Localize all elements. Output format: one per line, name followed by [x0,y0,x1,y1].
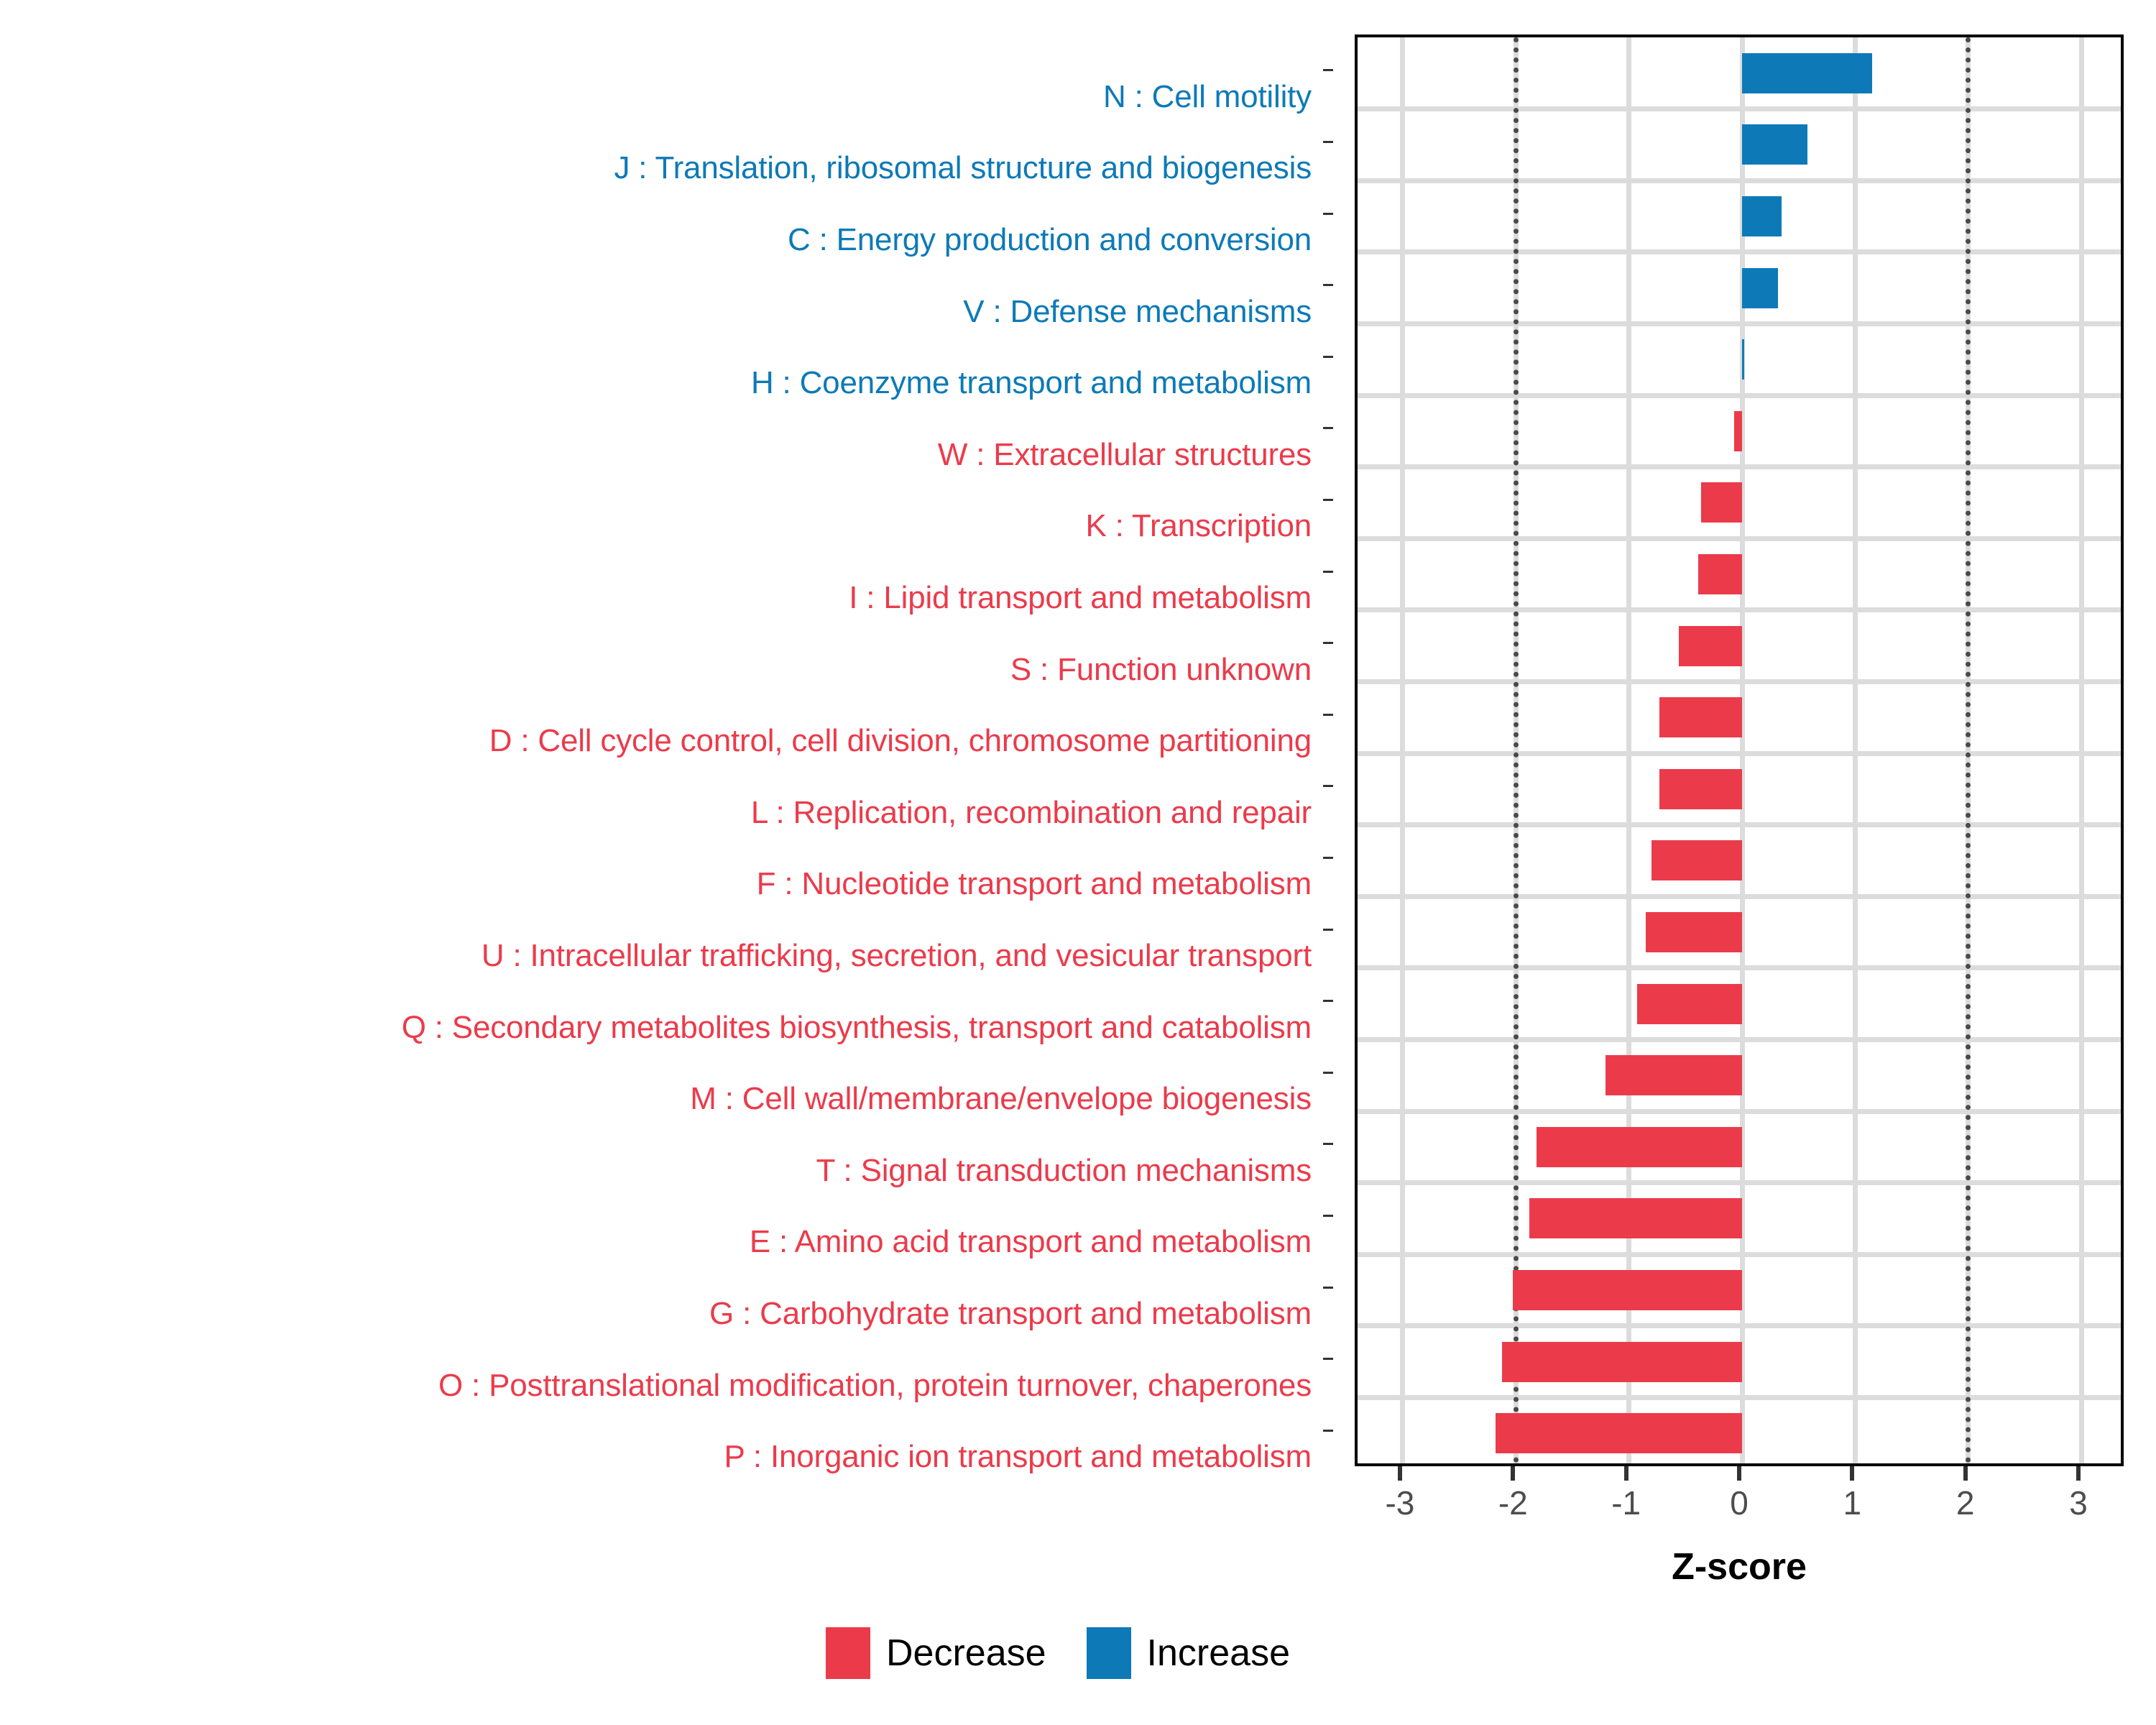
y-axis-tick [1323,929,1333,931]
x-axis-tick-label: -1 [1611,1483,1641,1522]
y-axis-tick [1323,69,1333,71]
x-axis-tick-label: -2 [1498,1483,1528,1522]
x-axis-tick-label: -3 [1385,1483,1414,1522]
x-axis: -3-2-10123 [1355,1466,2124,1552]
legend-label: Increase [1147,1632,1290,1675]
bar [1734,411,1742,451]
bar [1646,912,1742,952]
legend-item: Decrease [826,1627,1087,1679]
y-axis-tick [1323,356,1333,358]
grid-line-vertical [1853,37,1858,1463]
bar [1742,268,1778,308]
chart-legend: DecreaseIncrease [0,1614,2156,1693]
y-axis-category-labels: N : Cell motilityJ : Translation, riboso… [0,34,1333,1466]
y-axis-tick [1323,1358,1333,1360]
y-axis-tick [1323,141,1333,143]
x-axis-tick [1737,1466,1741,1481]
y-axis-tick [1323,1430,1333,1432]
legend-color-swatch [1087,1627,1131,1679]
bar [1496,1413,1742,1453]
y-axis-tick [1323,1215,1333,1217]
y-axis-tick [1323,642,1333,644]
reference-line [1966,37,1971,1463]
plot-panel [1355,34,2124,1466]
bar [1742,53,1872,93]
x-axis-title: Z-score [1355,1545,2124,1588]
bar [1513,1270,1742,1310]
cog-category-zscore-chart: N : Cell motilityJ : Translation, riboso… [0,0,2156,1725]
legend-item: Increase [1087,1627,1330,1679]
bar [1651,840,1742,880]
x-axis-tick [1850,1466,1854,1481]
y-axis-tick [1323,785,1333,787]
grid-line-vertical [1626,37,1631,1463]
y-axis-tick [1323,571,1333,573]
x-axis-tick-label: 2 [1956,1483,1975,1522]
bar [1659,697,1742,737]
reference-line [1514,37,1519,1463]
bar [1679,626,1742,666]
bar [1742,196,1782,236]
x-axis-tick [1511,1466,1515,1481]
y-axis-tick [1323,213,1333,215]
y-axis-tick [1323,1143,1333,1145]
y-axis-tick [1323,857,1333,859]
bar [1698,554,1742,594]
bar [1659,769,1742,809]
bar [1529,1198,1742,1238]
y-axis-tick [1323,714,1333,716]
bar [1606,1055,1742,1095]
x-axis-tick-label: 0 [1730,1483,1749,1522]
grid-line-vertical [1740,37,1745,1463]
x-axis-tick-label: 3 [2069,1483,2088,1522]
y-axis-tick [1323,284,1333,286]
x-axis-tick [1963,1466,1968,1481]
x-axis-tick-label: 1 [1843,1483,1862,1522]
bar [1742,339,1744,379]
legend-label: Decrease [886,1632,1046,1675]
grid-line-vertical [1400,37,1405,1463]
y-axis-tick [1323,427,1333,429]
grid-line-vertical [2079,37,2084,1463]
bar [1537,1127,1742,1167]
bar [1637,984,1742,1024]
bar [1742,124,1807,165]
x-axis-tick [1398,1466,1402,1481]
y-axis-tick [1323,1287,1333,1289]
y-axis-tick [1323,499,1333,501]
legend-color-swatch [826,1627,870,1679]
bar [1502,1342,1742,1382]
x-axis-tick [1624,1466,1628,1481]
x-axis-tick [2076,1466,2081,1481]
y-axis-tick [1323,1072,1333,1074]
bar [1701,482,1742,523]
y-axis-tick [1323,1000,1333,1002]
